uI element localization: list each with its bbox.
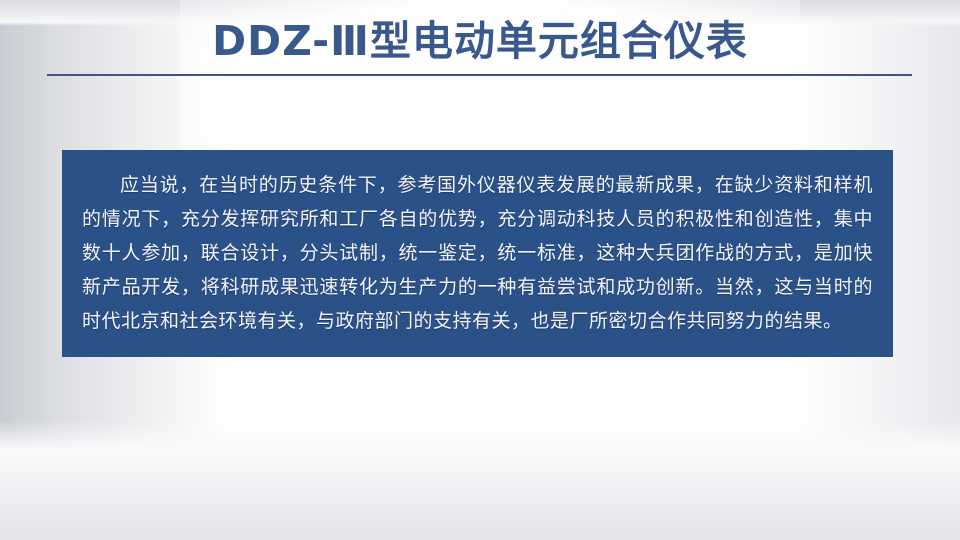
body-text-panel: 应当说，在当时的历史条件下，参考国外仪器仪表发展的最新成果，在缺少资料和样机的情… [62, 150, 893, 357]
title-divider-rule [47, 74, 912, 76]
slide-canvas: DDZ-Ⅲ型电动单元组合仪表 应当说，在当时的历史条件下，参考国外仪器仪表发展的… [0, 0, 960, 540]
page-title-cjk: 型电动单元组合仪表 [370, 18, 748, 64]
page-title: DDZ-Ⅲ型电动单元组合仪表 [0, 16, 960, 67]
page-title-latin: DDZ-Ⅲ [212, 17, 370, 65]
body-paragraph: 应当说，在当时的历史条件下，参考国外仪器仪表发展的最新成果，在缺少资料和样机的情… [82, 168, 873, 338]
background-bottom-band [0, 420, 960, 540]
